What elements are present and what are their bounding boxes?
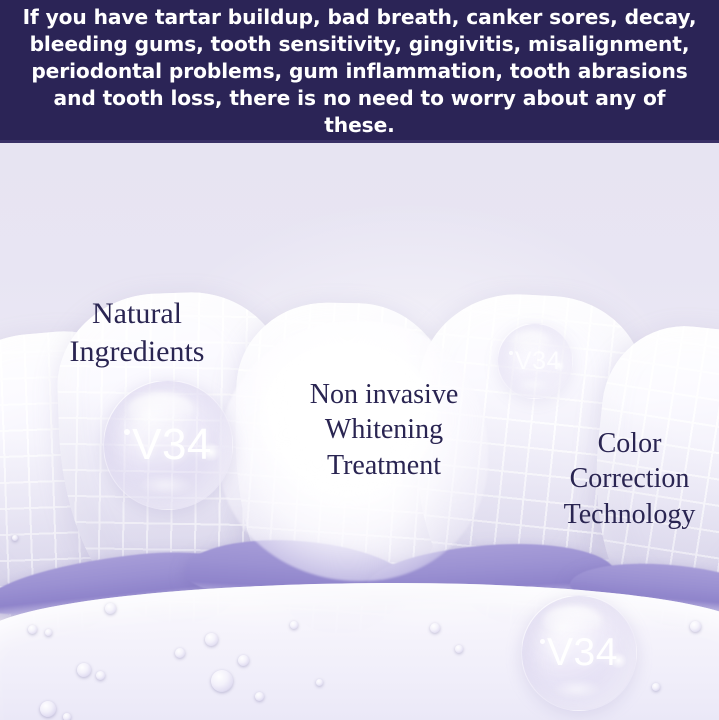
v34-bubble-large: V34	[103, 380, 233, 510]
water-droplet	[316, 679, 323, 686]
feature-caption-color-correction-technology: Color Correction Technology	[540, 426, 719, 532]
v34-bubble-label: V34	[509, 347, 561, 376]
water-droplet	[77, 663, 91, 677]
v34-bubble-small: V34	[497, 323, 573, 399]
water-droplet	[45, 629, 52, 636]
water-droplet	[211, 670, 233, 692]
water-droplet	[430, 623, 440, 633]
water-droplet	[63, 713, 71, 720]
feature-caption-natural-ingredients: Natural Ingredients	[30, 295, 244, 371]
water-droplet	[455, 645, 463, 653]
water-droplet	[652, 683, 660, 691]
advertisement-image: If you have tartar buildup, bad breath, …	[0, 0, 719, 720]
water-droplet	[105, 603, 116, 614]
header-text: If you have tartar buildup, bad breath, …	[15, 4, 705, 138]
water-droplet	[205, 633, 218, 646]
bubble-lead-dot-icon	[124, 429, 130, 435]
water-droplet	[290, 621, 298, 629]
water-droplet	[28, 625, 37, 634]
bubble-gloss-lower	[517, 378, 550, 391]
v34-text: V34	[547, 631, 618, 674]
feature-caption-non-invasive-whitening-treatment: Non invasive Whitening Treatment	[276, 377, 492, 483]
bubble-lead-dot-icon	[540, 639, 545, 644]
header-banner: If you have tartar buildup, bad breath, …	[0, 0, 719, 143]
bubble-lead-dot-icon	[509, 351, 513, 355]
v34-text: V34	[132, 420, 212, 469]
product-photo: V34 V34 V34 Natural Ingredients Non inva…	[0, 143, 719, 720]
bubble-gloss-lower	[552, 679, 602, 698]
v34-bubble-label: V34	[124, 420, 212, 470]
water-droplet	[238, 655, 249, 666]
water-droplet	[96, 671, 105, 680]
bubble-gloss-lower	[137, 474, 193, 496]
water-droplet	[40, 701, 56, 717]
water-droplet	[690, 621, 701, 632]
water-droplet	[12, 535, 18, 541]
v34-text: V34	[515, 347, 561, 375]
water-droplet	[255, 692, 264, 701]
water-droplet	[175, 648, 185, 658]
v34-bubble-label: V34	[540, 631, 618, 675]
v34-bubble-medium: V34	[521, 595, 637, 711]
